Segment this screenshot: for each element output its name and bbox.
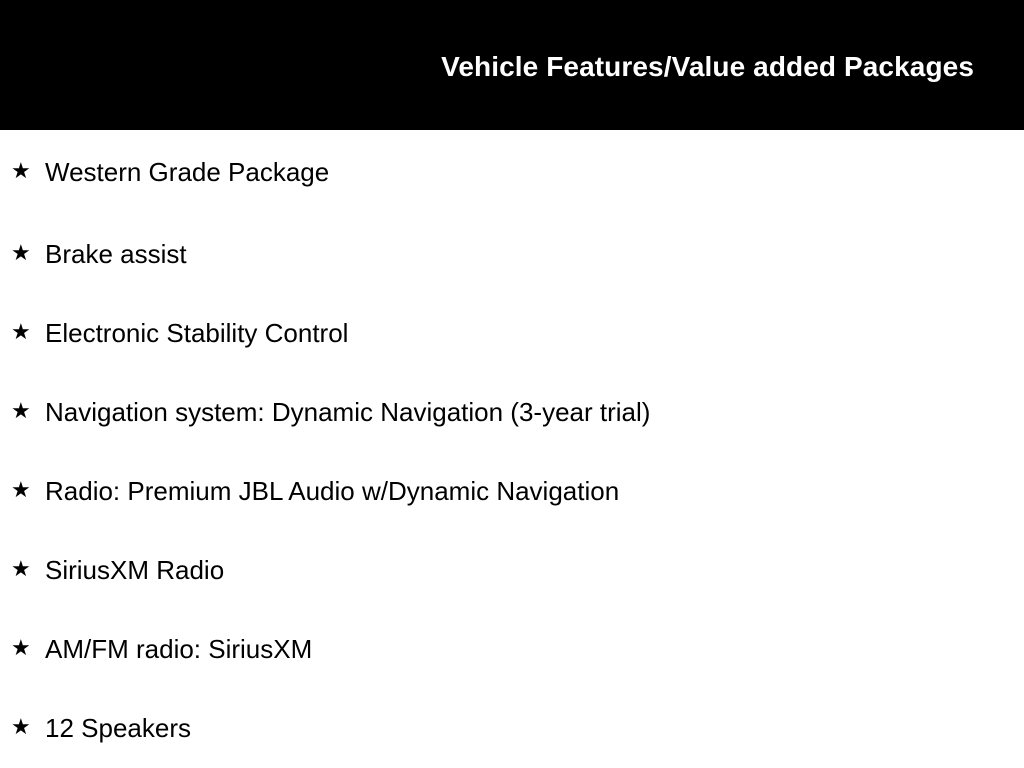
star-bullet-icon: ★	[11, 638, 37, 660]
list-item-label: Brake assist	[45, 239, 187, 269]
list-item-label: 12 Speakers	[45, 713, 191, 743]
star-bullet-icon: ★	[11, 480, 37, 502]
list-item-label: AM/FM radio: SiriusXM	[45, 634, 312, 664]
star-bullet-icon: ★	[11, 161, 37, 183]
page-title: Vehicle Features/Value added Packages	[441, 50, 974, 84]
list-item: ★ SiriusXM Radio	[0, 530, 1024, 609]
list-item-label: Radio: Premium JBL Audio w/Dynamic Navig…	[45, 476, 619, 506]
list-item: ★ Electronic Stability Control	[0, 293, 1024, 372]
list-item: ★ AM/FM radio: SiriusXM	[0, 609, 1024, 688]
list-item-label: Navigation system: Dynamic Navigation (3…	[45, 397, 650, 427]
list-item-label: Western Grade Package	[45, 157, 329, 187]
star-bullet-icon: ★	[11, 243, 37, 265]
list-item-label: Electronic Stability Control	[45, 318, 348, 348]
star-bullet-icon: ★	[11, 401, 37, 423]
slide-canvas: Vehicle Features/Value added Packages ★ …	[0, 0, 1024, 768]
list-item-label: SiriusXM Radio	[45, 555, 224, 585]
star-bullet-icon: ★	[11, 717, 37, 739]
feature-list: ★ Western Grade Package ★ Brake assist ★…	[0, 130, 1024, 767]
slide-header-band: Vehicle Features/Value added Packages	[0, 0, 1024, 130]
star-bullet-icon: ★	[11, 559, 37, 581]
star-bullet-icon: ★	[11, 322, 37, 344]
list-item: ★ Radio: Premium JBL Audio w/Dynamic Nav…	[0, 451, 1024, 530]
list-item: ★ 12 Speakers	[0, 688, 1024, 767]
list-item: ★ Western Grade Package	[0, 130, 1024, 214]
list-item: ★ Brake assist	[0, 214, 1024, 293]
list-item: ★ Navigation system: Dynamic Navigation …	[0, 372, 1024, 451]
